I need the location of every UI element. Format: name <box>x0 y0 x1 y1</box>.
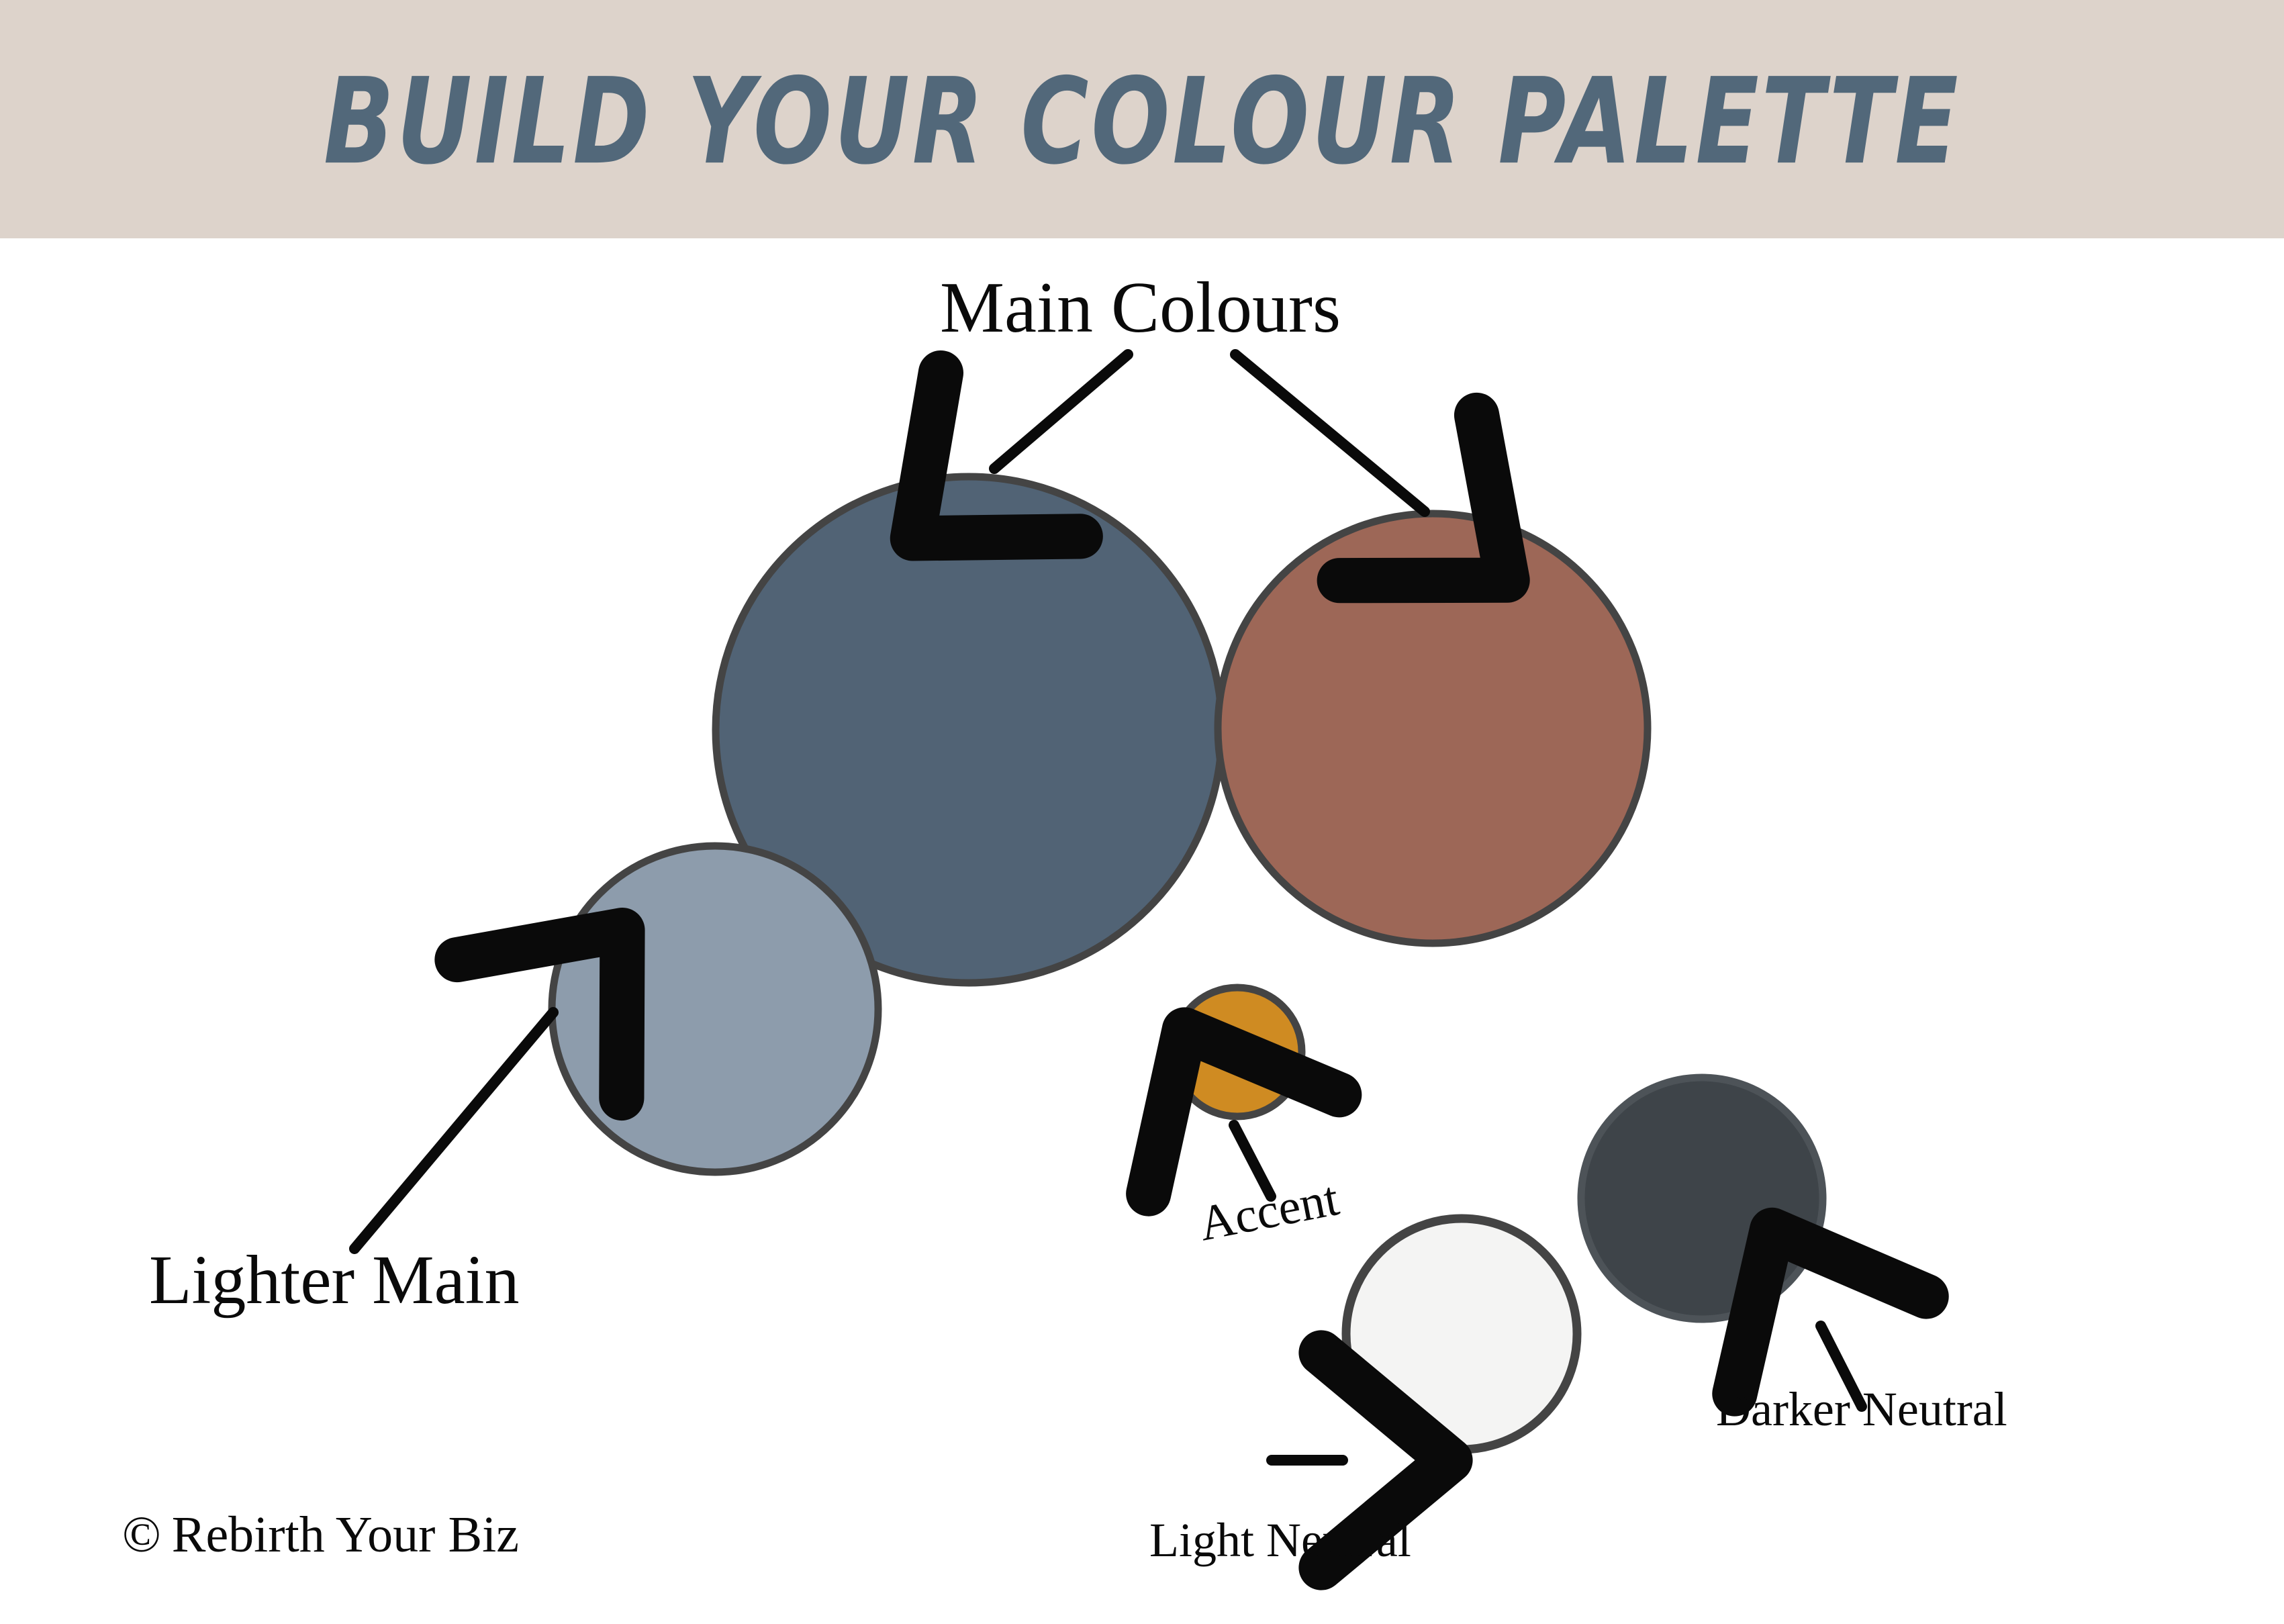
arrow-to-main-dark-blue <box>994 354 1128 469</box>
palette-diagram <box>0 0 2284 1624</box>
copyright-notice: © Rebirth Your Biz <box>122 1509 519 1560</box>
arrow-to-lighter-main <box>354 1012 553 1249</box>
swatch-darker-neutral[interactable] <box>1581 1078 1823 1319</box>
label-lighter-main: Lighter Main <box>149 1245 520 1315</box>
poster-canvas: BUILD YOUR COLOUR PALETTE <box>0 0 2284 1624</box>
label-light-neutral: Light Neutral <box>1149 1516 1411 1564</box>
swatch-circles <box>552 477 1823 1449</box>
swatch-light-neutral[interactable] <box>1346 1219 1577 1449</box>
copyright-icon: © <box>122 1509 161 1560</box>
arrow-to-main-terracotta <box>1235 354 1425 512</box>
swatch-lighter-main[interactable] <box>552 846 878 1172</box>
copyright-text: Rebirth Your Biz <box>172 1509 519 1560</box>
swatch-accent-gold[interactable] <box>1173 988 1302 1116</box>
label-darker-neutral: Darker Neutral <box>1716 1385 2007 1433</box>
swatch-main-terracotta[interactable] <box>1218 514 1648 943</box>
label-main-colours: Main Colours <box>940 272 1341 344</box>
